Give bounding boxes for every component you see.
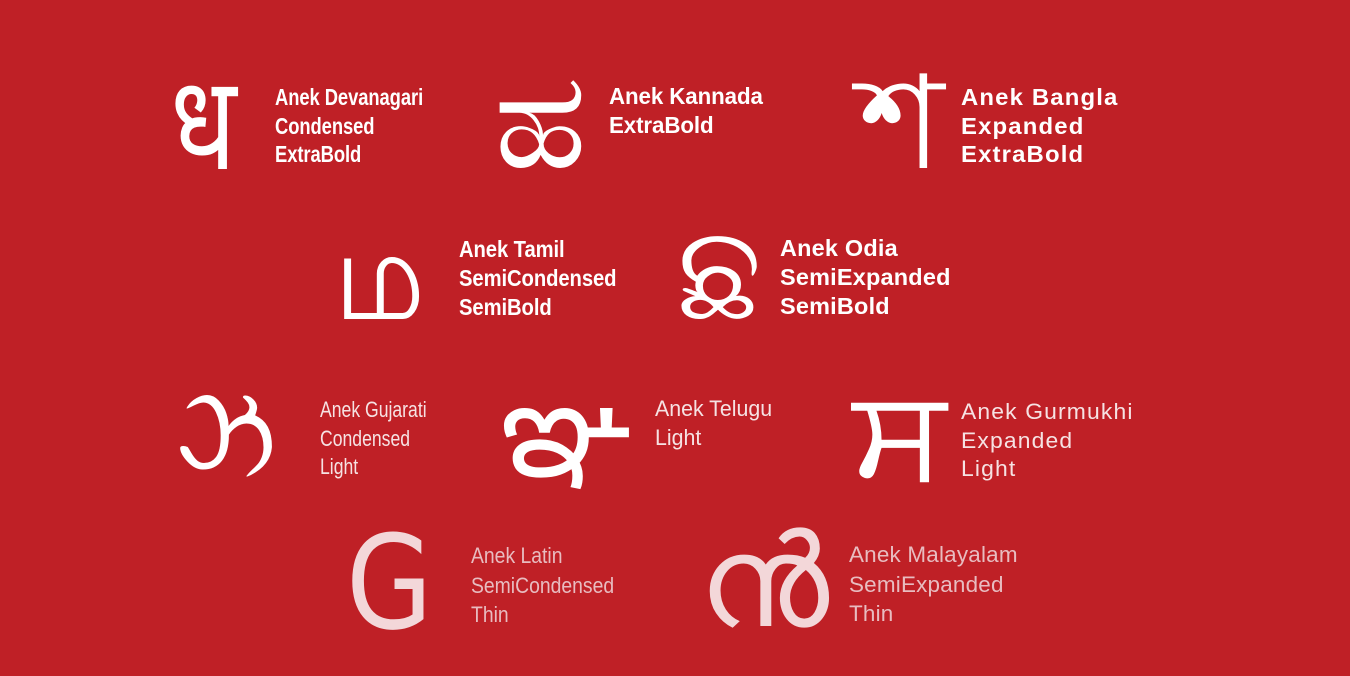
specimen-family-line: Anek Telugu xyxy=(655,395,772,424)
tamil-letter-ma-glyph: ம xyxy=(334,216,425,336)
specimen-family-line: Anek Tamil xyxy=(459,235,616,264)
specimen-weight-line: Thin xyxy=(471,600,614,630)
specimen-width-line: Expanded xyxy=(961,112,1118,141)
specimen-width-line: SemiCondensed xyxy=(459,264,616,293)
specimen-weight-line: Light xyxy=(655,424,772,453)
specimen-weight-line: Light xyxy=(320,453,427,482)
specimen-family-line: Anek Gurmukhi xyxy=(961,398,1134,427)
specimen-weight-line: ExtraBold xyxy=(961,140,1118,169)
specimen-weight-line: SemiBold xyxy=(780,292,951,321)
specimen-width-line: SemiCondensed xyxy=(471,571,614,601)
specimen-label-tamil: Anek Tamil SemiCondensed SemiBold xyxy=(459,235,616,322)
specimen-anek-gurmukhi: ਸ Anek Gurmukhi Expanded Light xyxy=(852,376,1127,494)
specimen-anek-latin: G Anek Latin SemiCondensed Thin xyxy=(346,522,633,646)
specimen-family-line: Anek Kannada xyxy=(609,82,763,111)
specimen-width-line: Expanded xyxy=(961,427,1134,456)
specimen-anek-kannada: ಹ Anek Kannada ExtraBold xyxy=(494,58,767,185)
font-specimen-poster: ध Anek Devanagari Condensed ExtraBold ಹ … xyxy=(0,0,1350,676)
specimen-weight-line: ExtraBold xyxy=(275,140,423,169)
gujarati-letter-jha-glyph: ઝ xyxy=(176,372,276,494)
specimen-label-devanagari: Anek Devanagari Condensed ExtraBold xyxy=(275,83,423,169)
gurmukhi-letter-sa-glyph: ਸ xyxy=(852,376,946,494)
specimen-label-kannada: Anek Kannada ExtraBold xyxy=(609,82,763,139)
specimen-width-line: Condensed xyxy=(275,112,423,141)
specimen-family-line: Anek Odia xyxy=(780,234,951,263)
specimen-weight-line: ExtraBold xyxy=(609,111,763,140)
devanagari-letter-dha-glyph: ध xyxy=(170,62,237,187)
specimen-anek-gujarati: ઝ Anek Gujarati Condensed Light xyxy=(176,372,453,494)
specimen-anek-malayalam: ൻ Anek Malayalam SemiExpanded Thin xyxy=(698,522,1015,644)
specimen-anek-telugu: ఞ Anek Telugu Light xyxy=(500,366,776,495)
specimen-family-line: Anek Malayalam xyxy=(849,540,1018,570)
specimen-family-line: Anek Gujarati xyxy=(320,396,427,425)
specimen-family-line: Anek Bangla xyxy=(961,83,1118,112)
odia-letter-cha-glyph: ଛ xyxy=(676,212,762,337)
specimen-label-odia: Anek Odia SemiExpanded SemiBold xyxy=(780,234,951,321)
specimen-label-telugu: Anek Telugu Light xyxy=(655,395,772,452)
specimen-label-latin: Anek Latin SemiCondensed Thin xyxy=(471,541,614,630)
specimen-weight-line: Light xyxy=(961,455,1134,484)
specimen-label-malayalam: Anek Malayalam SemiExpanded Thin xyxy=(849,540,1018,629)
specimen-anek-odia: ଛ Anek Odia SemiExpanded SemiBold xyxy=(676,212,947,337)
specimen-anek-devanagari: ध Anek Devanagari Condensed ExtraBold xyxy=(170,62,460,187)
specimen-anek-bangla: শ Anek Bangla Expanded ExtraBold xyxy=(858,62,1112,186)
telugu-letter-nya-glyph: ఞ xyxy=(500,366,633,495)
specimen-label-gurmukhi: Anek Gurmukhi Expanded Light xyxy=(961,398,1134,484)
specimen-weight-line: Thin xyxy=(849,599,1018,629)
specimen-label-gujarati: Anek Gujarati Condensed Light xyxy=(320,396,427,482)
bangla-letter-sha-glyph: শ xyxy=(858,62,944,186)
specimen-width-line: Condensed xyxy=(320,425,427,454)
specimen-anek-tamil: ம Anek Tamil SemiCondensed SemiBold xyxy=(334,216,638,336)
kannada-letter-ha-glyph: ಹ xyxy=(494,58,587,185)
specimen-weight-line: SemiBold xyxy=(459,293,616,322)
specimen-label-bangla: Anek Bangla Expanded ExtraBold xyxy=(961,83,1118,169)
latin-letter-g-glyph: G xyxy=(346,522,433,646)
malayalam-letter-chillu-n-glyph: ൻ xyxy=(698,522,829,644)
specimen-family-line: Anek Devanagari xyxy=(275,83,423,112)
specimen-family-line: Anek Latin xyxy=(471,541,614,571)
specimen-width-line: SemiExpanded xyxy=(849,570,1018,600)
specimen-width-line: SemiExpanded xyxy=(780,263,951,292)
